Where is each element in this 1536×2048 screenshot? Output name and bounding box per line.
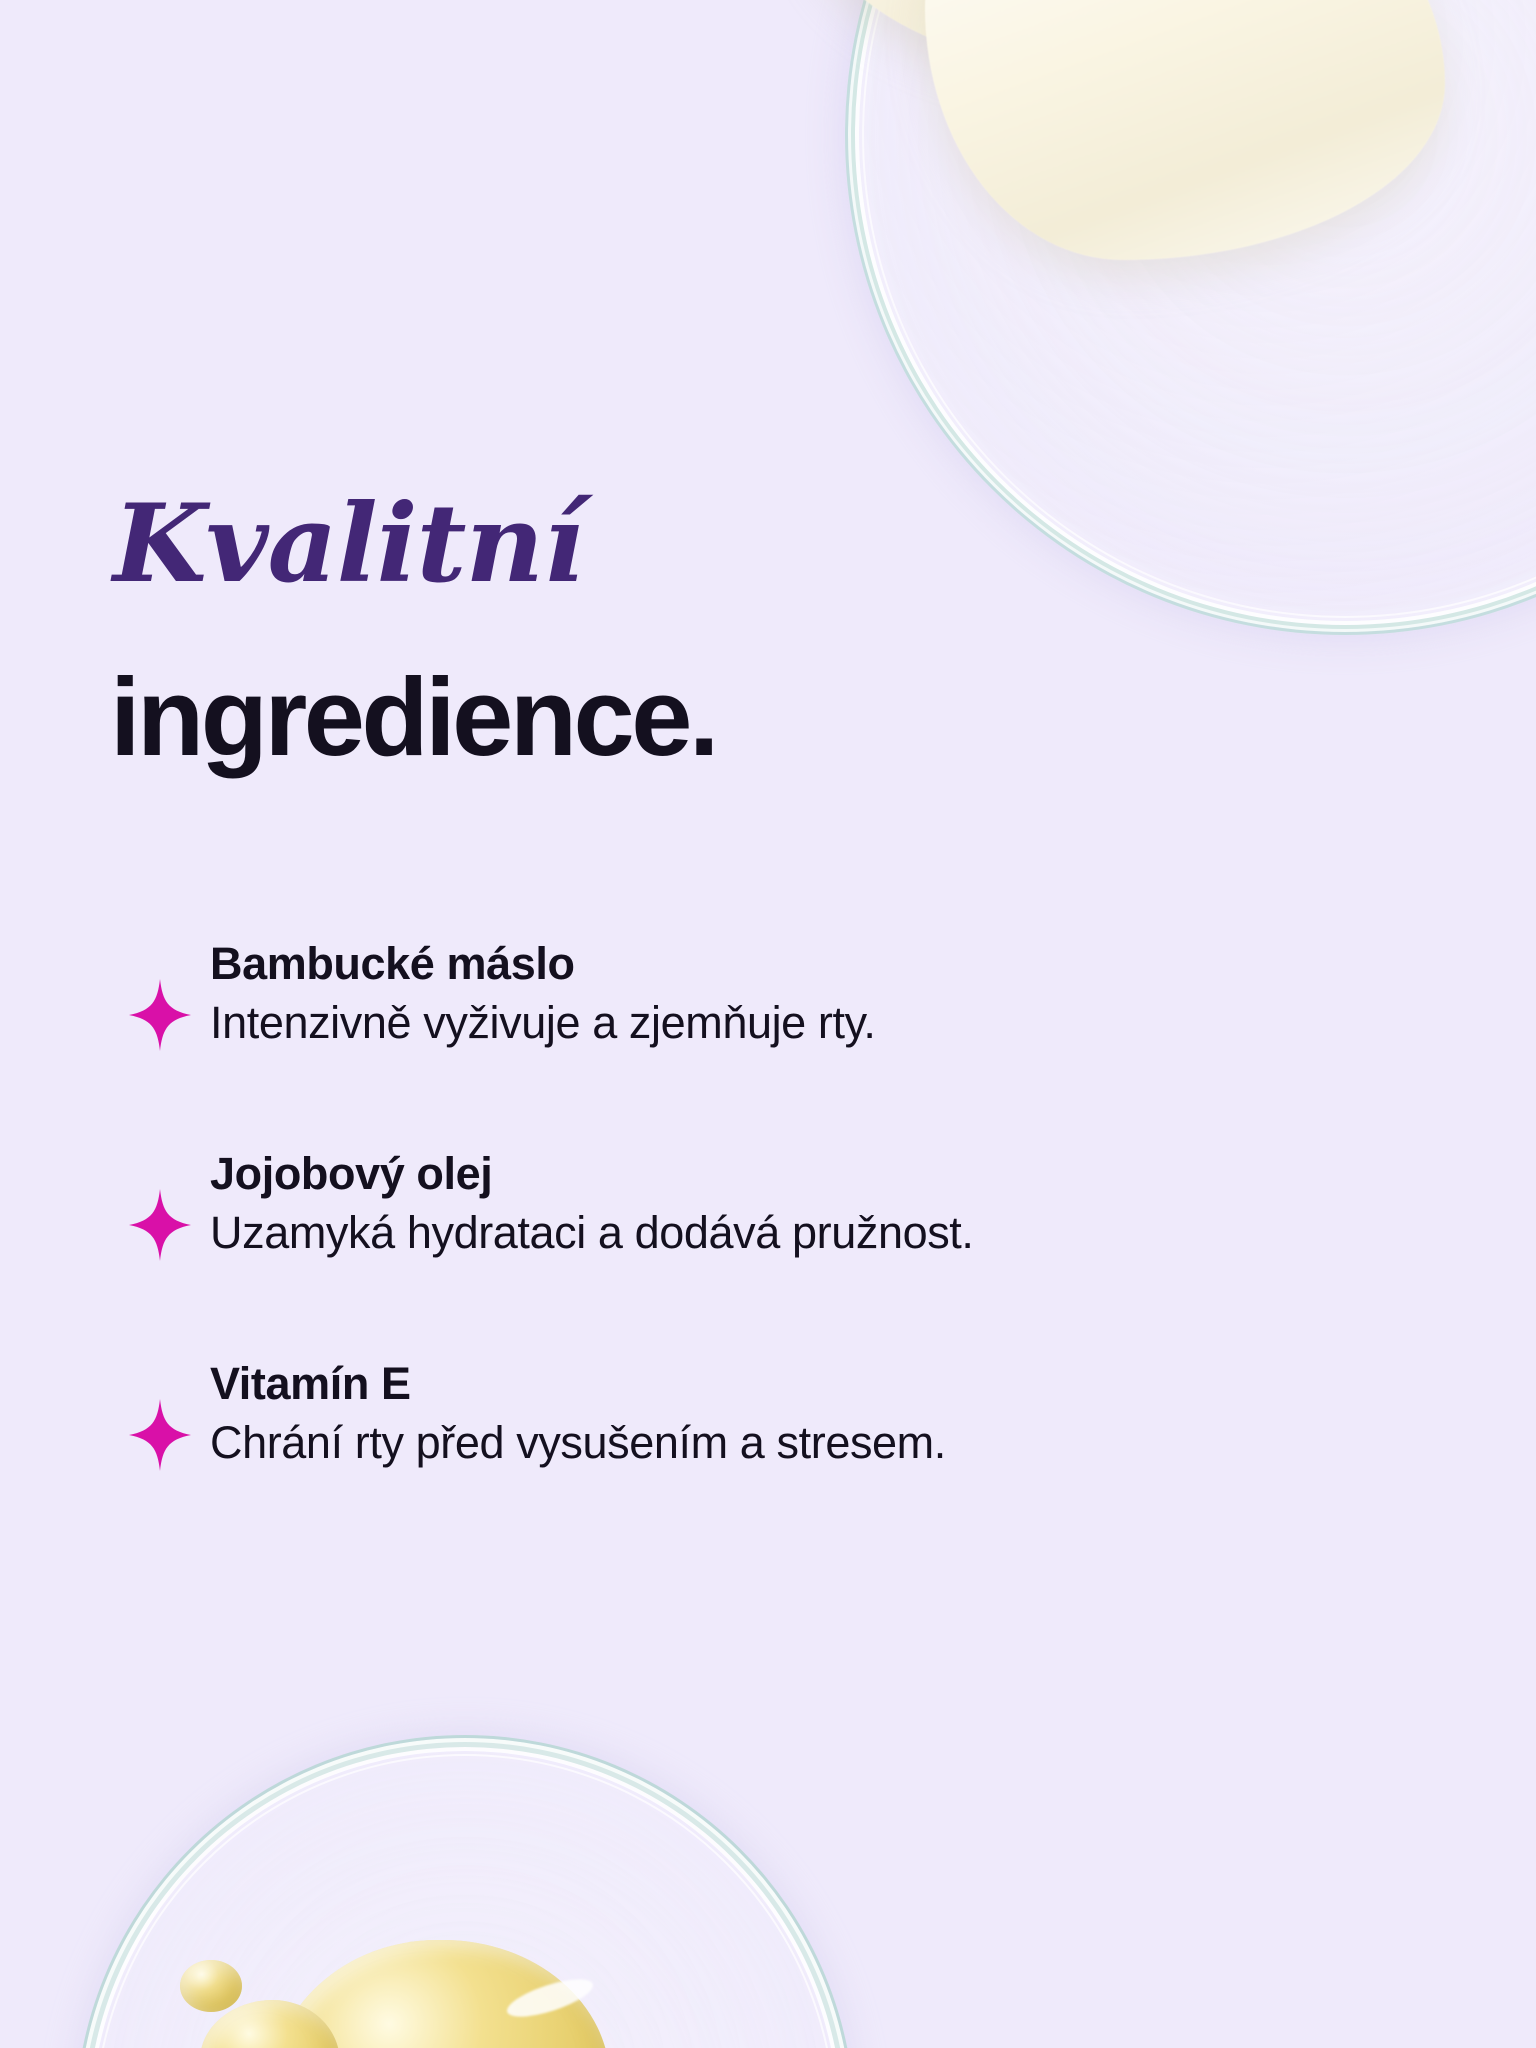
dish-inner-ring <box>94 1754 836 2048</box>
ingredient-name: Jojobový olej <box>210 1147 1430 1200</box>
ingredient-description: Uzamyká hydrataci a dodává pružnost. <box>210 1206 1430 1260</box>
ingredient-name: Vitamín E <box>210 1357 1430 1410</box>
list-item-text: Bambucké máslo Intenzivně vyživuje a zje… <box>210 935 1430 1050</box>
page-title: ingredience. <box>110 663 716 773</box>
ingredient-description: Intenzivně vyživuje a zjemňuje rty. <box>210 996 1430 1050</box>
list-item: Vitamín E Chrání rty před vysušením a st… <box>110 1355 1430 1485</box>
shea-butter-dish-image <box>845 0 1536 635</box>
jojoba-oil-dish-image <box>75 1735 855 2048</box>
sparkle-icon <box>110 1145 210 1261</box>
sparkle-icon <box>110 935 210 1051</box>
list-item: Bambucké máslo Intenzivně vyživuje a zje… <box>110 935 1430 1065</box>
promo-card: Kvalitní ingredience. Bambucké máslo Int… <box>0 0 1536 2048</box>
list-item-text: Vitamín E Chrání rty před vysušením a st… <box>210 1355 1430 1470</box>
list-item: Jojobový olej Uzamyká hydrataci a dodává… <box>110 1145 1430 1275</box>
headline-script-line: Kvalitní <box>113 490 583 598</box>
ingredient-name: Bambucké máslo <box>210 937 1430 990</box>
dish-inner-ring <box>862 0 1536 618</box>
list-item-text: Jojobový olej Uzamyká hydrataci a dodává… <box>210 1145 1430 1260</box>
sparkle-icon <box>110 1355 210 1471</box>
ingredient-description: Chrání rty před vysušením a stresem. <box>210 1416 1430 1470</box>
ingredient-list: Bambucké máslo Intenzivně vyživuje a zje… <box>110 935 1430 1485</box>
